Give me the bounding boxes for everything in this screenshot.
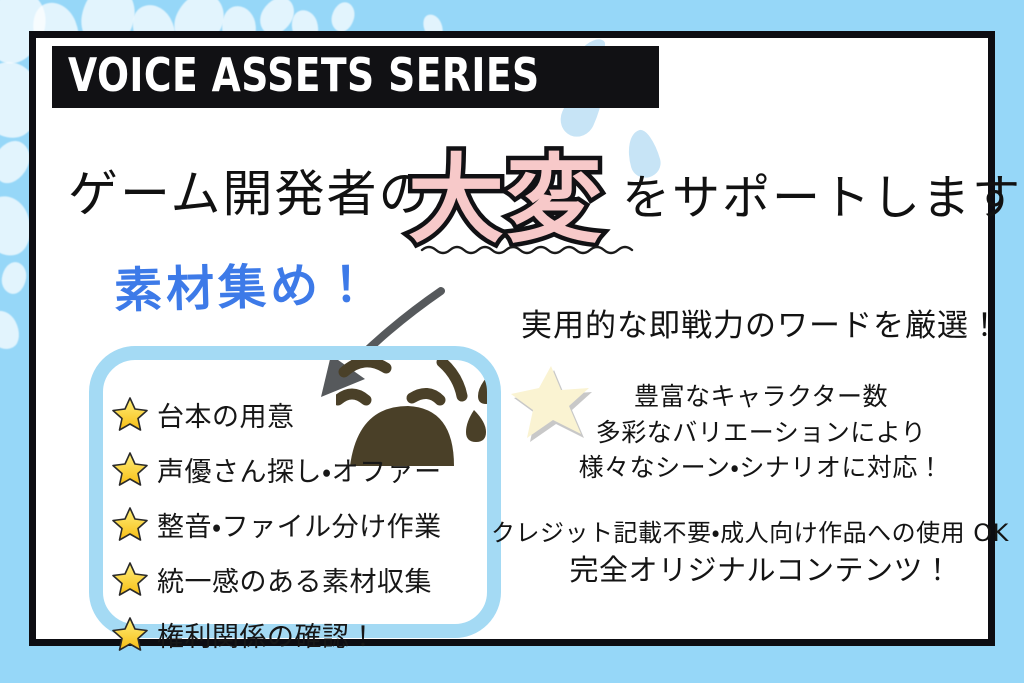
pale-star-icon: [503, 358, 595, 446]
list-item: 権利関係の確認！: [112, 610, 512, 658]
star-icon: [112, 506, 148, 542]
list-item-label: 統一感のある素材収集: [157, 560, 432, 599]
star-icon: [112, 561, 148, 597]
list-item-label: 声優さん探し・オファー: [157, 450, 442, 489]
headline: ゲーム開発者の 大変 をサポートします！: [52, 134, 992, 244]
spacer: [491, 486, 1024, 516]
star-icon: [112, 396, 148, 432]
blob-decor: [0, 305, 26, 354]
right-column-footer-line: クレジット記載不要・成人向け作品への使用 OK ！: [491, 516, 1024, 550]
series-banner: VOICE ASSETS SERIES: [52, 46, 659, 108]
blob-decor: [0, 260, 28, 295]
right-column-footer-line: 完全オリジナルコンテンツ！: [491, 550, 1024, 591]
wavy-underline-icon: [420, 242, 636, 256]
headline-emphasis: 大変: [408, 122, 604, 261]
right-column-line: 様々なシーン・シナリオに対応！: [491, 450, 1024, 486]
blob-decor: [329, 0, 358, 34]
star-icon: [112, 451, 148, 487]
series-banner-label: VOICE ASSETS SERIES: [68, 52, 540, 98]
task-list: 台本の用意 声優さん探し・オファー 整音・ファイル分け作業 統一感のある素材収集: [112, 390, 512, 665]
list-item-label: 権利関係の確認！: [157, 615, 377, 654]
headline-prefix: ゲーム開発者の: [68, 154, 431, 226]
list-item-label: 整音・ファイル分け作業: [157, 505, 442, 544]
poster-canvas: VOICE ASSETS SERIES ゲーム開発者の 大変 をサポートします！…: [0, 0, 1024, 683]
list-item: 整音・ファイル分け作業: [112, 500, 512, 548]
headline-suffix: をサポートします！: [622, 158, 1024, 228]
list-item: 声優さん探し・オファー: [112, 445, 512, 493]
poster-card: VOICE ASSETS SERIES ゲーム開発者の 大変 をサポートします！…: [29, 31, 995, 646]
star-icon: [112, 616, 148, 652]
list-item: 台本の用意: [112, 390, 512, 438]
list-item: 統一感のある素材収集: [112, 555, 512, 603]
right-column-heading: 実用的な即戦力のワードを厳選！: [491, 300, 1024, 345]
list-item-label: 台本の用意: [157, 395, 295, 434]
right-column: 実用的な即戦力のワードを厳選！ 豊富なキャラクター数 多彩なバリエーションにより…: [491, 300, 1024, 591]
